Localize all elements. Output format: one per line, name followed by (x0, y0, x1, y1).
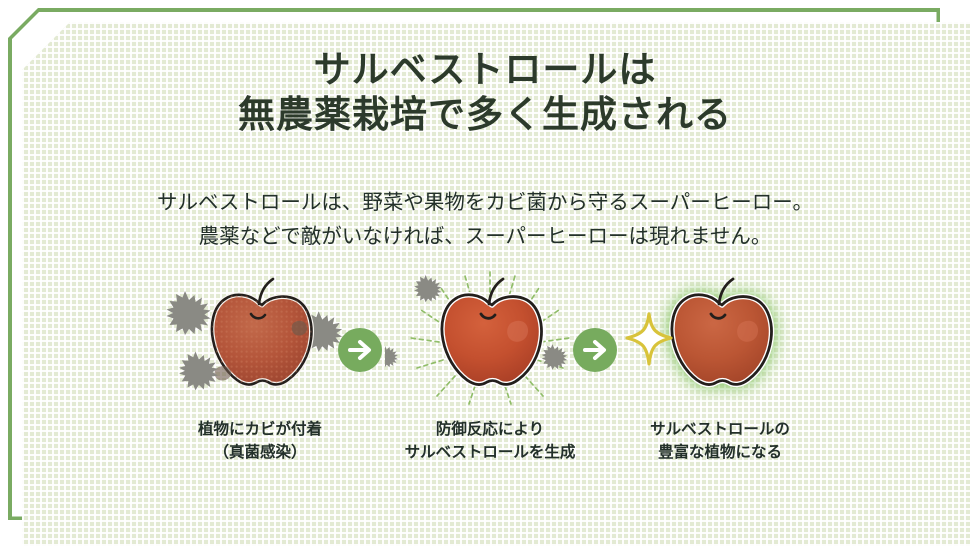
infographic-poster: サルベストロールは 無農薬栽培で多く生成される サルベストロールは、野菜や果物を… (0, 0, 970, 546)
mold-blob-icon (167, 291, 211, 335)
poster-content: サルベストロールは 無農薬栽培で多く生成される サルベストロールは、野菜や果物を… (0, 0, 970, 546)
process-arrow-1 (338, 328, 382, 372)
process-diagram: 植物にカビが付着 （真菌感染） (0, 270, 970, 485)
apple-infected-illustration (155, 270, 365, 405)
arrow-right-icon (338, 328, 382, 372)
step-2-caption: 防御反応により サルベストロールを生成 (385, 418, 595, 464)
page-title: サルベストロールは 無農薬栽培で多く生成される (0, 47, 970, 137)
mold-blob-icon (385, 345, 398, 368)
process-step-3: サルベストロールの 豊富な植物になる (615, 270, 825, 485)
mold-blob-icon (414, 275, 441, 302)
apple-icon (442, 279, 542, 384)
mold-blob-icon (179, 351, 218, 390)
step-3-caption: サルベストロールの 豊富な植物になる (615, 418, 825, 464)
apple-healthy-illustration (615, 270, 825, 405)
apple-defending-illustration (385, 270, 595, 405)
arrow-right-icon (573, 328, 617, 372)
process-arrow-2 (573, 328, 617, 372)
apple-icon (212, 279, 312, 384)
poster-subtitle: サルベストロールは、野菜や果物をカビ菌から守るスーパーヒーロー。 農薬などで敵が… (0, 186, 970, 254)
process-step-1: 植物にカビが付着 （真菌感染） (155, 270, 365, 485)
step-1-caption: 植物にカビが付着 （真菌感染） (155, 418, 365, 464)
mold-blob-icon (542, 344, 568, 370)
apple-icon (672, 279, 772, 384)
sparkle-icon (627, 314, 671, 364)
process-step-2: 防御反応により サルベストロールを生成 (385, 270, 595, 485)
